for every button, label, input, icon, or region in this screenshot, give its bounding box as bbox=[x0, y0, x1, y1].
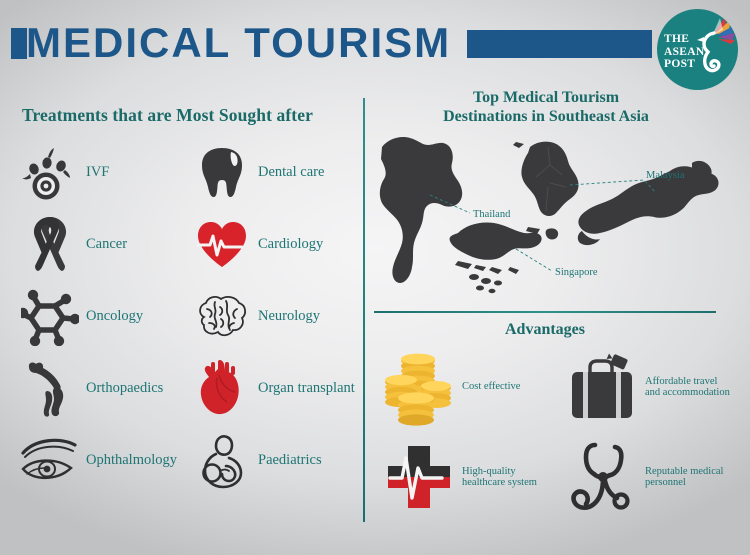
treatments-heading: Treatments that are Most Sought after bbox=[22, 105, 313, 126]
treatment-label: Neurology bbox=[258, 309, 320, 325]
advantage-label-line2: healthcare system bbox=[462, 477, 537, 489]
advantage-row: Cost effective Affordable travel bbox=[376, 342, 742, 432]
coin-stacks-icon bbox=[376, 344, 462, 430]
treatment-row: Oncology Neur bbox=[14, 281, 359, 353]
vertical-divider bbox=[363, 98, 365, 522]
heart-ecg-icon bbox=[186, 212, 258, 278]
suitcase-icon bbox=[559, 344, 645, 430]
eye-icon bbox=[14, 428, 86, 494]
treatment-item-orthopaedics: Orthopaedics bbox=[14, 356, 186, 422]
map-heading-line2: Destinations in Southeast Asia bbox=[381, 107, 711, 126]
coin-stack-front bbox=[398, 392, 434, 425]
treatment-label: IVF bbox=[86, 165, 109, 181]
header: MEDICAL TOURISM THE ASEAN POST bbox=[0, 0, 750, 92]
treatment-item-organ-transplant: Organ transplant bbox=[186, 356, 358, 422]
thailand-shape bbox=[380, 137, 462, 283]
treatment-label: Organ transplant bbox=[258, 381, 355, 397]
treatment-row: Ophthalmology Paediatrics bbox=[14, 425, 359, 497]
treatment-item-neurology: Neurology bbox=[186, 284, 358, 350]
advantage-label-line1: Reputable medical bbox=[645, 466, 723, 478]
advantage-row: High-quality healthcare system bbox=[376, 432, 742, 522]
awareness-ribbon-icon bbox=[14, 212, 86, 278]
stethoscope-joint bbox=[598, 472, 608, 482]
treatment-row: IVF Dental care bbox=[14, 137, 359, 209]
treatment-label: Oncology bbox=[86, 309, 143, 325]
treatment-item-ivf: IVF bbox=[14, 140, 186, 206]
treatment-item-cancer: Cancer bbox=[14, 212, 186, 278]
advantage-item-reputable-personnel: Reputable medical personnel bbox=[559, 432, 742, 522]
map-label-thailand: Thailand bbox=[473, 209, 511, 220]
bone-joint-icon bbox=[14, 356, 86, 422]
stethoscope-icon bbox=[559, 434, 645, 520]
advantage-label-line2: personnel bbox=[645, 477, 723, 489]
anatomical-heart-icon bbox=[186, 356, 258, 422]
logo-text: THE ASEAN POST bbox=[664, 33, 712, 71]
map-heading: Top Medical Tourism Destinations in Sout… bbox=[381, 88, 711, 126]
treatment-item-dental-care: Dental care bbox=[186, 140, 358, 206]
treatment-row: Orthopaedics Organ bbox=[14, 353, 359, 425]
advantages-heading: Advantages bbox=[374, 321, 716, 339]
advantage-item-high-quality-healthcare: High-quality healthcare system bbox=[376, 432, 559, 522]
treatment-label: Orthopaedics bbox=[86, 381, 163, 397]
map-label-malaysia: Malaysia bbox=[646, 170, 685, 181]
mother-and-baby-icon bbox=[186, 428, 258, 494]
treatment-item-ophthalmology: Ophthalmology bbox=[14, 428, 186, 494]
the-asean-post-logo: THE ASEAN POST bbox=[657, 9, 738, 90]
treatments-grid: IVF Dental care Cancer bbox=[14, 137, 359, 497]
treatment-label: Paediatrics bbox=[258, 453, 322, 469]
advantage-item-cost-effective: Cost effective bbox=[376, 342, 559, 432]
advantage-label-line1: High-quality bbox=[462, 466, 537, 478]
treatment-label: Cardiology bbox=[258, 237, 323, 253]
southeast-asia-map: Thailand Malaysia Singapore bbox=[370, 125, 740, 305]
ivf-sperm-egg-icon bbox=[14, 140, 86, 206]
molecule-icon bbox=[14, 284, 86, 350]
page-title: MEDICAL TOURISM bbox=[11, 22, 451, 64]
advantage-label-line2: and accommodation bbox=[645, 387, 730, 399]
medical-cross-ecg-icon bbox=[376, 434, 462, 520]
treatment-item-paediatrics: Paediatrics bbox=[186, 428, 358, 494]
treatment-item-cardiology: Cardiology bbox=[186, 212, 358, 278]
advantage-label: Affordable travel and accommodation bbox=[645, 376, 730, 399]
island-shape bbox=[546, 228, 559, 239]
malaysia-islet-shape bbox=[513, 142, 524, 148]
brain-icon bbox=[186, 284, 258, 350]
advantage-label: Reputable medical personnel bbox=[645, 466, 723, 489]
advantage-label: Cost effective bbox=[462, 381, 520, 393]
advantage-label: High-quality healthcare system bbox=[462, 466, 537, 489]
treatment-row: Cancer Cardiology bbox=[14, 209, 359, 281]
small-islands bbox=[455, 261, 519, 293]
advantages-grid: Cost effective Affordable travel bbox=[376, 342, 742, 522]
treatment-item-oncology: Oncology bbox=[14, 284, 186, 350]
peninsular-malaysia-shape bbox=[521, 142, 578, 216]
title-accent-square bbox=[11, 28, 27, 59]
treatment-label: Cancer bbox=[86, 237, 127, 253]
stethoscope-earpiece bbox=[615, 495, 628, 508]
advantage-item-affordable-travel: Affordable travel and accommodation bbox=[559, 342, 742, 432]
map-heading-line1: Top Medical Tourism bbox=[381, 88, 711, 107]
map-label-singapore: Singapore bbox=[555, 267, 598, 278]
horizontal-divider bbox=[374, 311, 716, 313]
treatment-label: Dental care bbox=[258, 165, 324, 181]
title-accent-bar bbox=[467, 30, 652, 58]
tooth-icon bbox=[186, 140, 258, 206]
page-title-text: MEDICAL TOURISM bbox=[26, 22, 451, 64]
advantage-label-line1: Affordable travel bbox=[645, 376, 730, 388]
advantage-label-line1: Cost effective bbox=[462, 381, 520, 393]
treatment-label: Ophthalmology bbox=[86, 453, 177, 469]
